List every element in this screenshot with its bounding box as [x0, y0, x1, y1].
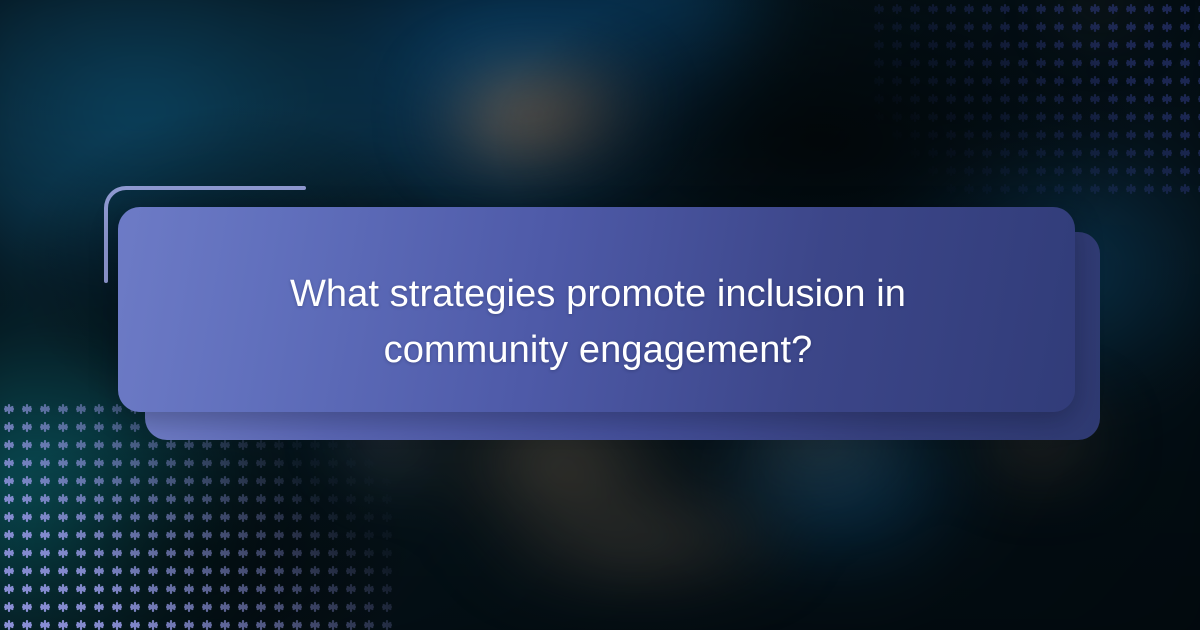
quote-line-2: community engagement?: [150, 322, 1046, 378]
quote-line-1: What strategies promote inclusion in: [290, 273, 906, 315]
social-card-canvas: What strategies promote inclusion in com…: [0, 0, 1200, 630]
quote-text: What strategies promote inclusion in com…: [150, 266, 1046, 378]
